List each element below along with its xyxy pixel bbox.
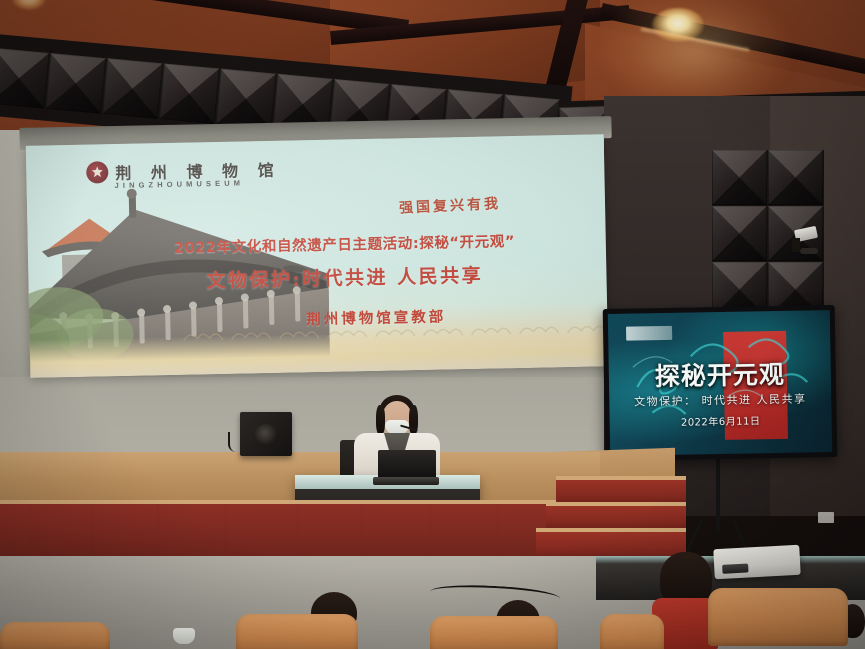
stage-wood-grain — [0, 504, 600, 564]
slide-slogan: 强国复兴有我 — [399, 193, 502, 218]
lecture-hall-scene: 荆 州 博 物 馆 JINGZHOUMUSEUM 强国复兴有我 2022年文化和… — [0, 0, 865, 649]
audience-seat-5 — [0, 622, 110, 649]
tv-title: 探秘开元观 — [609, 354, 832, 394]
tv-monitor: 探秘开元观 文物保护： 时代共进 人民共享 2022年6月11日 — [603, 305, 838, 461]
presentation-slide: 荆 州 博 物 馆 JINGZHOUMUSEUM 强国复兴有我 2022年文化和… — [26, 134, 609, 378]
drinking-cup — [173, 628, 195, 644]
stage-steps — [556, 452, 686, 567]
projection-screen: 荆 州 博 物 馆 JINGZHOUMUSEUM 强国复兴有我 2022年文化和… — [26, 126, 609, 383]
audience-seat-4 — [600, 614, 664, 649]
projector-unit — [713, 545, 800, 579]
stage-step-lower — [536, 528, 686, 556]
tv-museum-logo-icon — [626, 326, 672, 341]
laptop-screen — [378, 450, 436, 479]
audience-seat-1 — [236, 614, 358, 649]
audience-seat-3 — [708, 588, 848, 646]
speaker-cone-icon — [254, 424, 278, 446]
wall-outlet-plate — [818, 512, 834, 523]
camera-mount — [800, 248, 818, 254]
tv-screen: 探秘开元观 文物保护： 时代共进 人民共享 2022年6月11日 — [608, 310, 832, 456]
slide-organizer: 荆州博物馆宣教部 — [306, 305, 446, 329]
stage-step-upper — [556, 476, 686, 502]
presenter-hair-left — [376, 405, 385, 435]
camera-arm — [792, 238, 800, 252]
laptop-keyboard — [373, 477, 439, 485]
wall-behind-stage — [0, 377, 604, 457]
stage-front-panel — [0, 500, 600, 560]
projector-lens-icon — [722, 563, 748, 573]
slide-subheadline: 文物保护:时代共进 人民共享 — [206, 261, 483, 294]
stage-speaker-box — [240, 412, 292, 456]
tv-stand-pole — [716, 455, 720, 533]
museum-logo-mark-icon — [86, 161, 108, 183]
audience-seat-2 — [430, 616, 558, 649]
ceiling-spotlight — [652, 8, 704, 42]
stage-step-middle — [546, 502, 686, 528]
